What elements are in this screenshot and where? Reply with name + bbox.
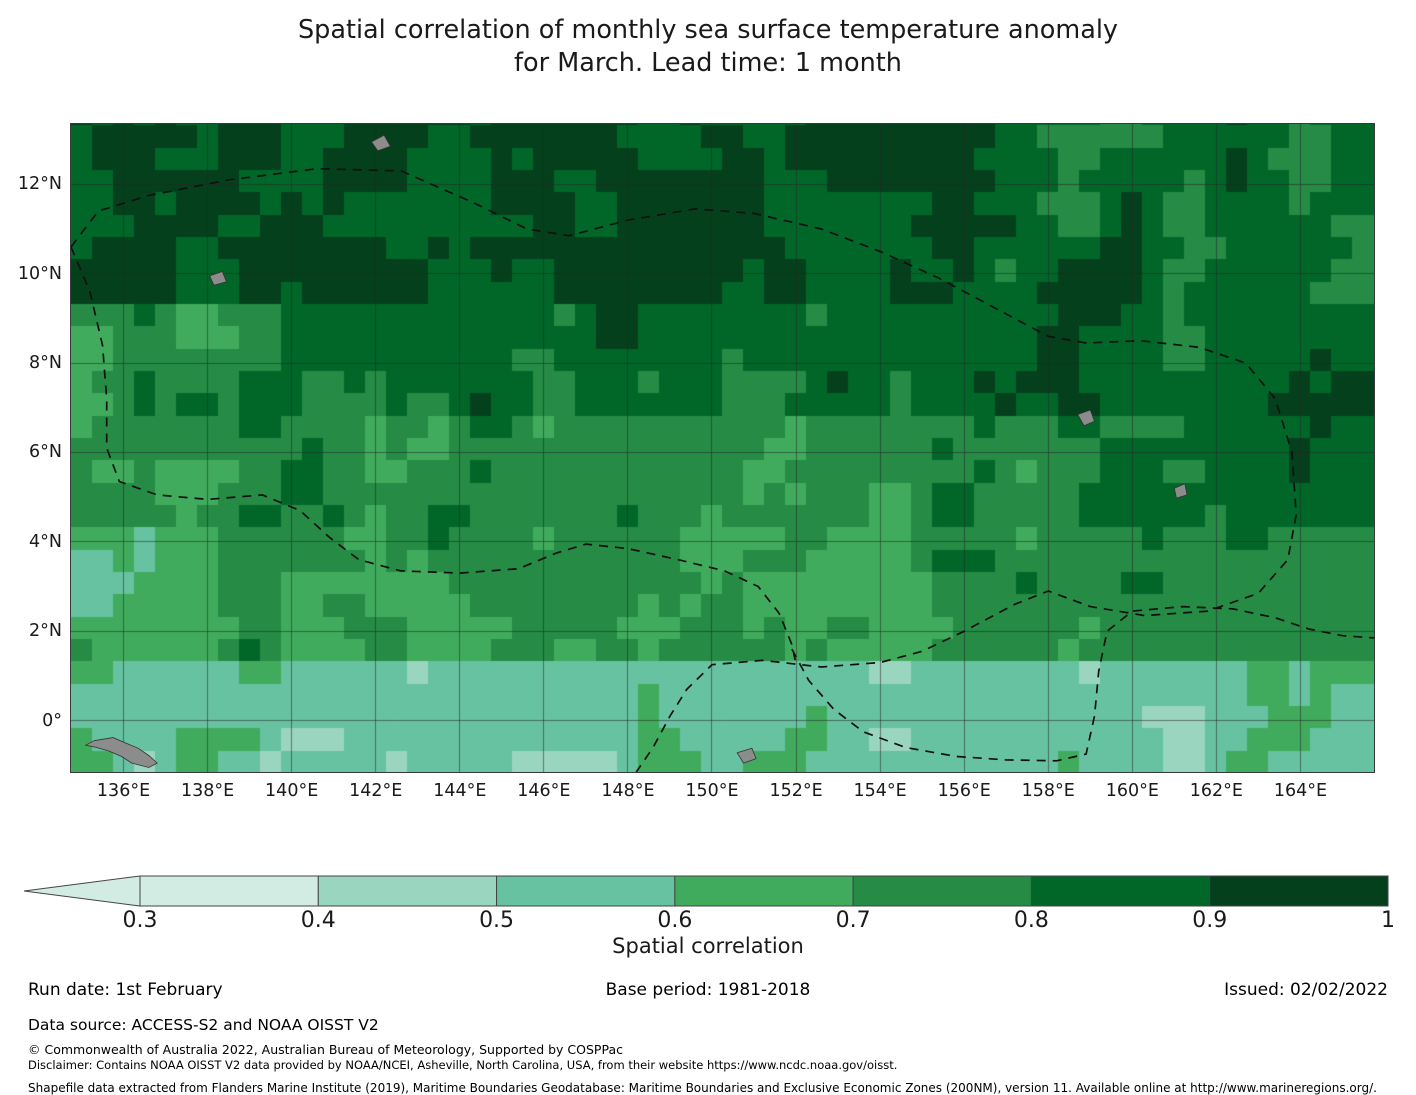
x-tick-0: 136°E <box>97 781 150 801</box>
copyright-notice: © Commonwealth of Australia 2022, Austra… <box>28 1042 623 1057</box>
base-period: Base period: 1981-2018 <box>0 980 1416 1000</box>
colorbar-tick-2: 0.5 <box>479 908 514 933</box>
colorbar-band-1 <box>318 876 496 906</box>
land-islet-yap <box>210 272 227 286</box>
x-tick-11: 158°E <box>1022 781 1075 801</box>
colorbar-band-6 <box>1210 876 1388 906</box>
map-vector-overlay <box>71 124 1374 772</box>
x-tick-13: 162°E <box>1190 781 1243 801</box>
colorbar-tick-4: 0.7 <box>836 908 871 933</box>
eez-southern-segment <box>792 607 1374 761</box>
colorbar-band-0 <box>140 876 318 906</box>
land-islet-pohnpei <box>1078 410 1095 426</box>
colorbar-tick-6: 0.9 <box>1192 908 1227 933</box>
colorbar-tick-5: 0.8 <box>1014 908 1049 933</box>
colorbar-tick-7: 1 <box>1381 908 1395 933</box>
colorbar-band-5 <box>1031 876 1209 906</box>
land-islet-central <box>737 748 756 763</box>
data-source: Data source: ACCESS-S2 and NOAA OISST V2 <box>28 1016 379 1034</box>
colorbar: 0.30.40.50.60.70.80.91 Spatial correlati… <box>0 868 1416 968</box>
colorbar-swatches <box>0 868 1416 908</box>
colorbar-band-3 <box>675 876 853 906</box>
x-tick-1: 138°E <box>181 781 234 801</box>
colorbar-tick-0: 0.3 <box>123 908 158 933</box>
title-line-1: Spatial correlation of monthly sea surfa… <box>0 14 1416 47</box>
colorbar-extend-min-arrow <box>24 876 140 906</box>
disclaimer-text: Disclaimer: Contains NOAA OISST V2 data … <box>28 1058 897 1072</box>
y-tick-5: 10°N <box>0 264 62 284</box>
y-tick-2: 4°N <box>0 532 62 552</box>
x-axis-labels: 136°E138°E140°E142°E144°E146°E148°E150°E… <box>70 781 1375 811</box>
x-tick-7: 150°E <box>685 781 738 801</box>
x-tick-9: 154°E <box>854 781 907 801</box>
y-axis-labels: 0°2°N4°N6°N8°N10°N12°N <box>0 123 62 773</box>
colorbar-tick-1: 0.4 <box>301 908 336 933</box>
eez-northern-arc <box>71 169 1296 772</box>
colorbar-band-4 <box>853 876 1031 906</box>
metadata-row: Run date: 1st February Base period: 1981… <box>0 980 1416 1004</box>
colorbar-title: Spatial correlation <box>0 934 1416 958</box>
y-tick-3: 6°N <box>0 442 62 462</box>
footer: Run date: 1st February Base period: 1981… <box>0 980 1416 1095</box>
y-tick-4: 8°N <box>0 353 62 373</box>
y-tick-6: 12°N <box>0 174 62 194</box>
x-tick-2: 140°E <box>265 781 318 801</box>
x-tick-3: 142°E <box>349 781 402 801</box>
issued-date: Issued: 02/02/2022 <box>1224 980 1388 1000</box>
y-tick-0: 0° <box>0 711 62 731</box>
x-tick-14: 164°E <box>1274 781 1327 801</box>
x-tick-12: 160°E <box>1106 781 1159 801</box>
shapefile-attribution: Shapefile data extracted from Flanders M… <box>28 1081 1377 1095</box>
y-tick-1: 2°N <box>0 621 62 641</box>
colorbar-tick-3: 0.6 <box>657 908 692 933</box>
exclusive-economic-zone-boundary <box>71 169 1374 772</box>
land-islet-north <box>372 135 391 151</box>
map-plot-area <box>70 123 1375 773</box>
x-tick-4: 144°E <box>433 781 486 801</box>
colorbar-band-2 <box>497 876 675 906</box>
page-title: Spatial correlation of monthly sea surfa… <box>0 14 1416 80</box>
land-polygons <box>86 135 1187 767</box>
x-tick-8: 152°E <box>769 781 822 801</box>
eez-western-limb <box>71 247 796 665</box>
x-tick-6: 148°E <box>601 781 654 801</box>
title-line-2: for March. Lead time: 1 month <box>0 47 1416 80</box>
land-island-west <box>86 738 158 768</box>
x-tick-5: 146°E <box>517 781 570 801</box>
land-islet-kosrae <box>1174 484 1187 498</box>
x-tick-10: 156°E <box>938 781 991 801</box>
